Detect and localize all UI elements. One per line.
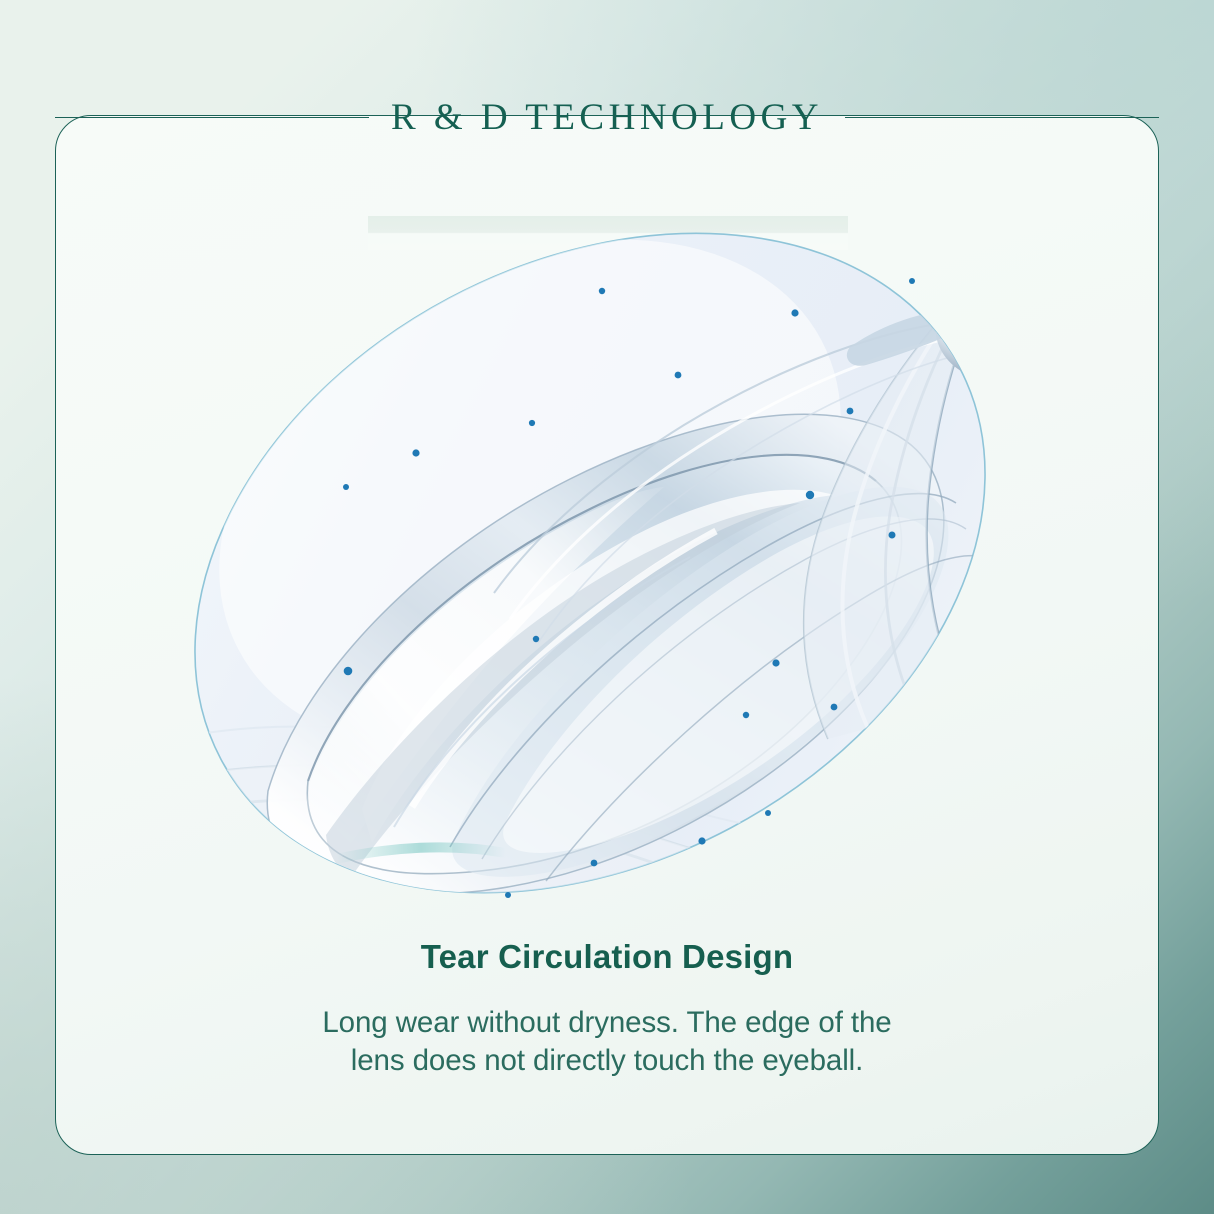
tear-particle-dot (806, 491, 814, 499)
feature-description: Long wear without dryness. The edge of t… (0, 1004, 1214, 1081)
tear-particle-dot (533, 636, 539, 642)
tear-particle-dot (698, 837, 705, 844)
feature-description-line-1: Long wear without dryness. The edge of t… (0, 1004, 1214, 1042)
tear-particle-dot (505, 892, 511, 898)
tear-particle-dot (675, 372, 682, 379)
tear-particle-dot (743, 712, 749, 718)
feature-description-line-2: lens does not directly touch the eyeball… (0, 1042, 1214, 1080)
tear-particle-dot (591, 860, 598, 867)
header-title-row: R & D TECHNOLOGY (0, 93, 1214, 141)
tear-particle-dot (909, 278, 915, 284)
tear-particle-dot (765, 810, 771, 816)
tear-particle-dot (343, 484, 349, 490)
tear-particle-dot (847, 408, 854, 415)
tear-particle-dot (889, 532, 896, 539)
tear-particle-dot (831, 704, 838, 711)
title-rule-right (845, 117, 1159, 118)
tear-particle-dot (412, 449, 419, 456)
lens-scene (150, 195, 1050, 940)
promo-slide: R & D TECHNOLOGY (0, 0, 1214, 1214)
tear-particle-dot (791, 309, 798, 316)
hero-illustration (150, 195, 1064, 940)
tear-particle-dot (529, 420, 535, 426)
tear-particle-dot (599, 288, 605, 294)
page-title: R & D TECHNOLOGY (369, 99, 845, 136)
tear-particle-dot (772, 659, 779, 666)
title-rule-left (55, 117, 369, 118)
feature-heading: Tear Circulation Design (0, 938, 1214, 976)
tear-particle-dot (344, 667, 353, 676)
